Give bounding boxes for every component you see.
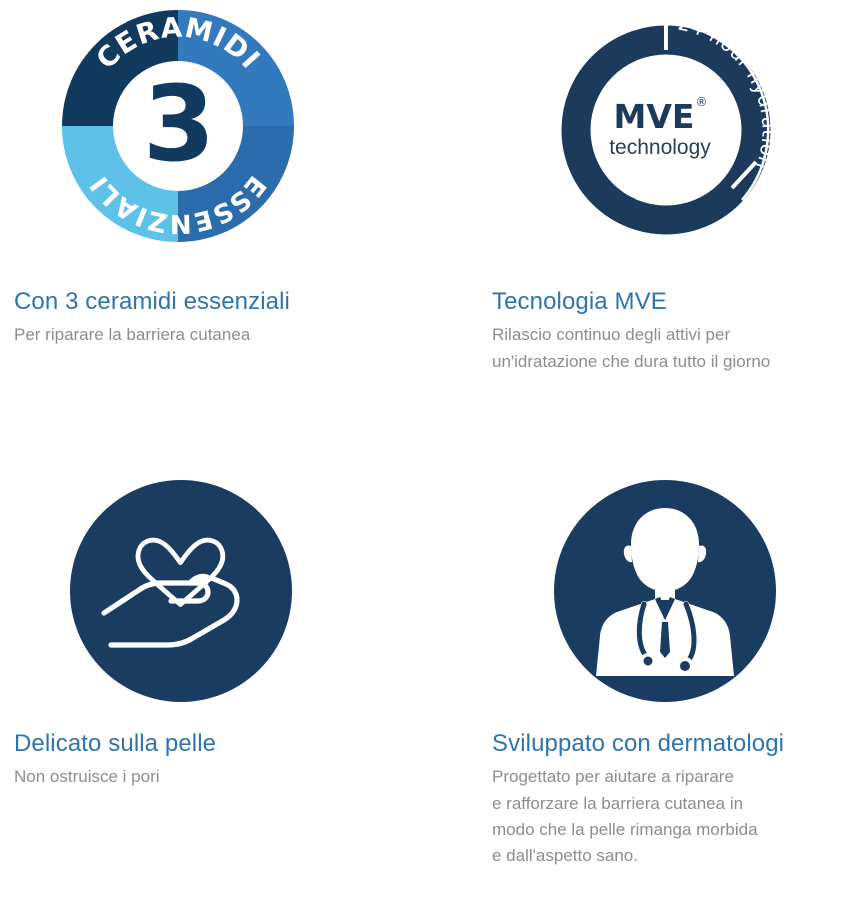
desc-line: Progettato per aiutare a riparare: [492, 764, 847, 790]
feature-desc-ceramidi: Per riparare la barriera cutanea: [14, 322, 468, 348]
dermatologi-text-block: Sviluppato con dermatologi Progettato pe…: [492, 730, 847, 870]
desc-line: modo che la pelle rimanga morbida: [492, 817, 847, 843]
feature-grid: CERAMIDI ESSENZIALI 3 Con 3 ceramidi ess…: [0, 0, 857, 898]
feature-desc-dermatologi: Progettato per aiutare a riparare e raff…: [492, 764, 847, 869]
ceramidi-text-block: Con 3 ceramidi essenziali Per riparare l…: [14, 288, 468, 349]
feature-title-delicato: Delicato sulla pelle: [14, 730, 468, 758]
feature-title-ceramidi: Con 3 ceramidi essenziali: [14, 288, 468, 316]
feature-title-mve: Tecnologia MVE: [492, 288, 847, 316]
desc-line: e rafforzare la barriera cutanea in: [492, 791, 847, 817]
mve-technology-badge: 24-hour hydration MVE® technology: [546, 10, 786, 250]
dermatologist-doctor-icon: [554, 480, 776, 702]
mve-brand-label: MVE: [614, 97, 695, 136]
mve-brand: MVE®: [614, 100, 707, 133]
mve-text-block: Tecnologia MVE Rilascio continuo degli a…: [492, 288, 847, 375]
registered-mark: ®: [695, 95, 707, 109]
feature-title-dermatologi: Sviluppato con dermatologi: [492, 730, 847, 758]
feature-desc-delicato: Non ostruisce i pori: [14, 764, 468, 790]
mve-center-text: MVE® technology: [590, 100, 730, 160]
dermatologi-visual: [0, 452, 857, 702]
desc-line: Non ostruisce i pori: [14, 764, 468, 790]
desc-line: Rilascio continuo degli attivi per: [492, 322, 847, 348]
desc-line: e dall'aspetto sano.: [492, 843, 847, 869]
feature-cell-dermatologi: Sviluppato con dermatologi Progettato pe…: [478, 430, 857, 898]
desc-line: un'idratazione che dura tutto il giorno: [492, 349, 847, 375]
feature-cell-mve: 24-hour hydration MVE® technology Tecnol…: [478, 0, 857, 430]
delicato-text-block: Delicato sulla pelle Non ostruisce i por…: [14, 730, 468, 791]
feature-desc-mve: Rilascio continuo degli attivi per un'id…: [492, 322, 847, 375]
desc-line: Per riparare la barriera cutanea: [14, 322, 468, 348]
mve-sublabel: technology: [590, 136, 730, 160]
doctor-glyph: [554, 480, 776, 702]
mve-visual: 24-hour hydration MVE® technology: [0, 0, 857, 268]
